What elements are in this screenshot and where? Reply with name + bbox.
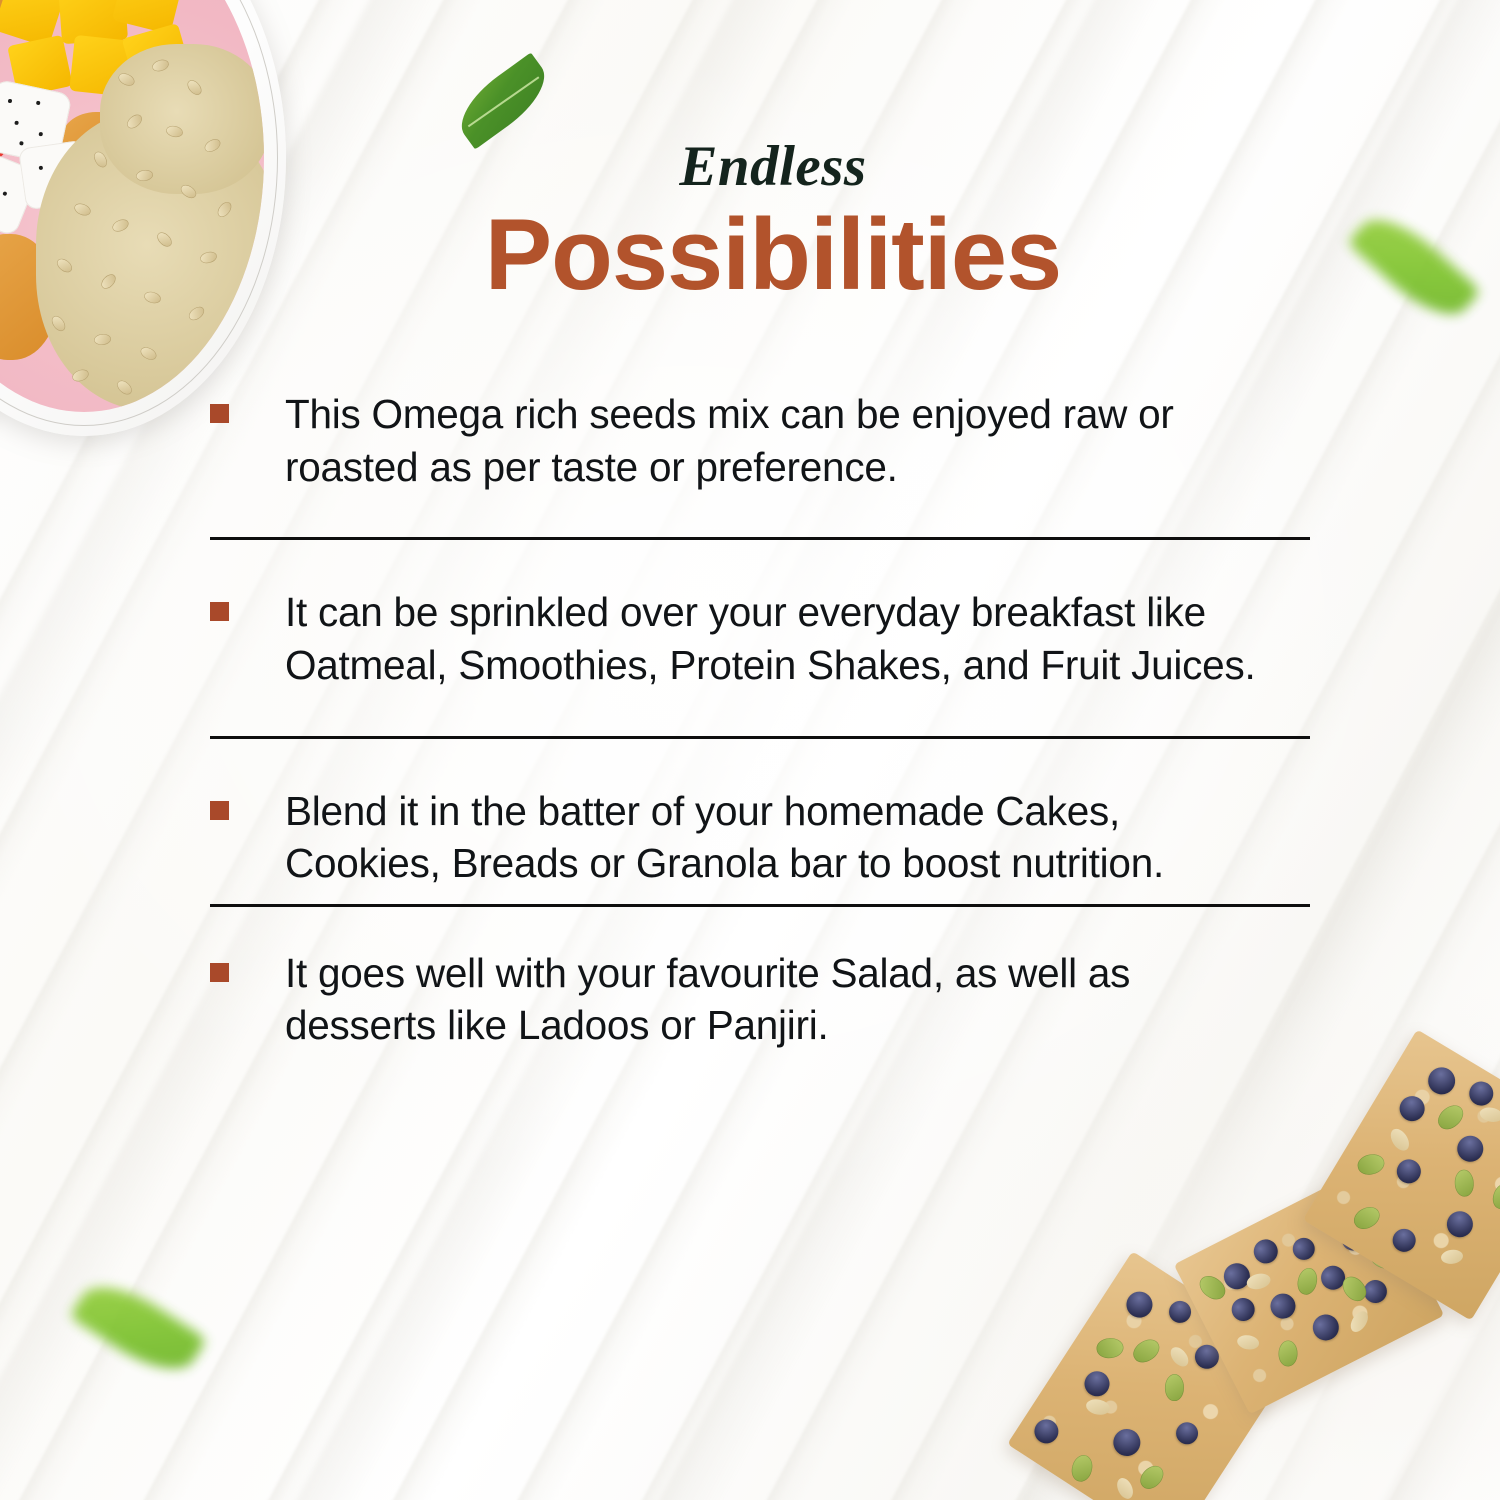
list-item-text: Blend it in the batter of your homemade … (285, 785, 1285, 890)
list-item: This Omega rich seeds mix can be enjoyed… (210, 388, 1312, 493)
spacer (210, 493, 1312, 537)
list-item-text: It can be sprinkled over your everyday b… (285, 586, 1285, 691)
bullet-square-icon (210, 602, 229, 621)
bullet-square-icon (210, 963, 229, 982)
promo-card: Endless Possibilities This Omega rich se… (0, 0, 1500, 1500)
bullet-square-icon (210, 404, 229, 423)
spacer (210, 890, 1312, 904)
spacer (210, 907, 1312, 947)
bullet-square-icon (210, 801, 229, 820)
list-item-text: It goes well with your favourite Salad, … (285, 947, 1285, 1052)
list-item: It can be sprinkled over your everyday b… (210, 586, 1312, 691)
list-item-text: This Omega rich seeds mix can be enjoyed… (285, 388, 1285, 493)
list-item: Blend it in the batter of your homemade … (210, 785, 1312, 890)
spacer (210, 540, 1312, 586)
spacer (210, 739, 1312, 785)
benefits-list: This Omega rich seeds mix can be enjoyed… (210, 388, 1312, 1052)
spacer (210, 692, 1312, 736)
list-item: It goes well with your favourite Salad, … (210, 947, 1312, 1052)
